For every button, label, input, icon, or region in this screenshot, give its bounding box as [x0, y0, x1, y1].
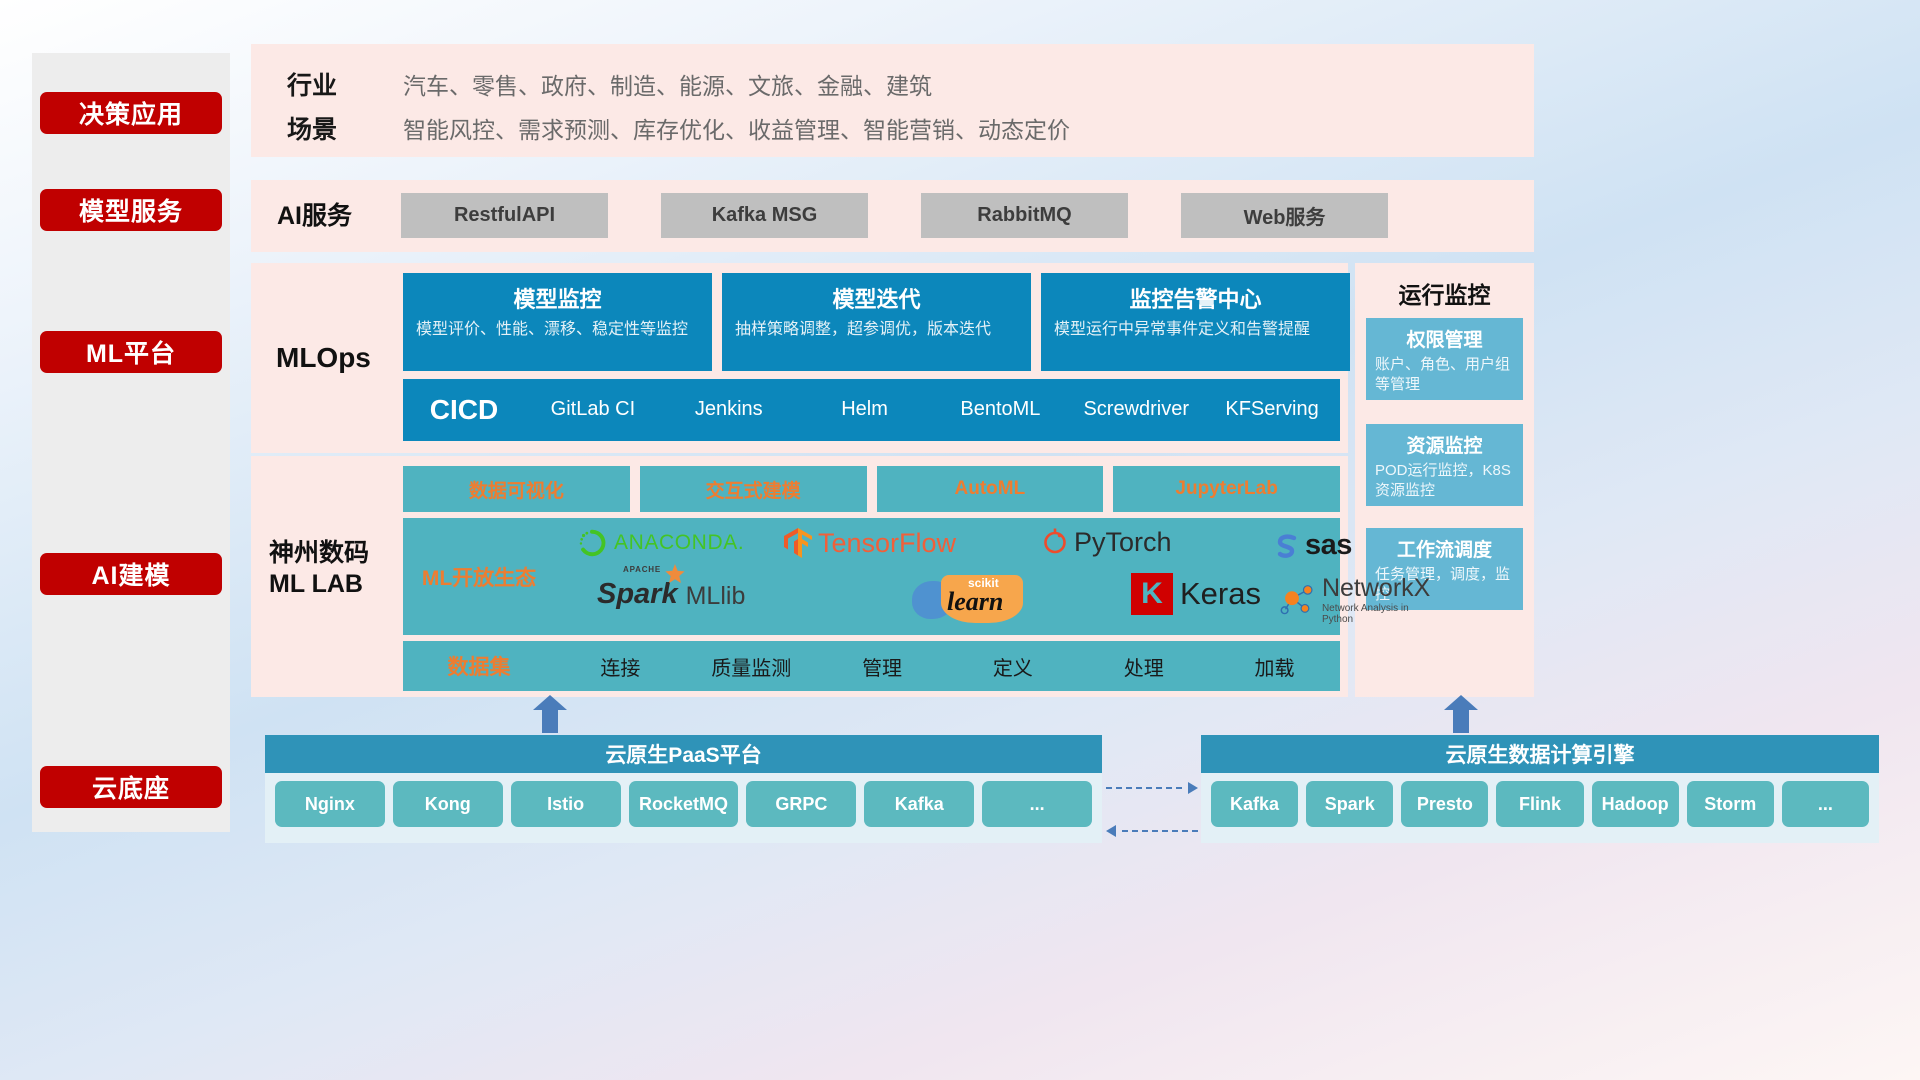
engine-item-hadoop[interactable]: Hadoop	[1592, 781, 1679, 827]
dataset-row: 数据集 连接 质量监测 管理 定义 处理 加载	[403, 641, 1340, 691]
scenario-value: 智能风控、需求预测、库存优化、收益管理、智能营销、动态定价	[403, 111, 1070, 145]
anaconda-icon	[577, 528, 607, 558]
engine-item-storm[interactable]: Storm	[1687, 781, 1774, 827]
stage-pill-ml-platform[interactable]: ML平台	[40, 331, 222, 373]
dataset-label: 数据集	[403, 651, 555, 681]
ml-ecosystem-row: ML开放生态 ANACONDA.	[403, 518, 1340, 635]
arrow-up-icon-paas	[533, 695, 567, 733]
cicd-tool-jenkins[interactable]: Jenkins	[661, 398, 797, 422]
card-title: 工作流调度	[1375, 535, 1514, 562]
pytorch-logo: PyTorch	[1042, 527, 1172, 558]
decision-app-panel: 行业 汽车、零售、政府、制造、能源、文旅、金融、建筑 场景 智能风控、需求预测、…	[251, 44, 1534, 157]
runtime-monitoring-panel: 运行监控 权限管理 账户、角色、用户组等管理 资源监控 POD运行监控，K8S资…	[1355, 263, 1534, 697]
scikit-learn-logo: scikit learn	[912, 575, 1028, 623]
stage-pill-cloud-base[interactable]: 云底座	[40, 766, 222, 808]
dataset-item-definition[interactable]: 定义	[947, 652, 1078, 681]
pytorch-icon	[1042, 528, 1068, 558]
dataset-item-management[interactable]: 管理	[817, 652, 948, 681]
card-desc: 模型运行中异常事件定义和告警提醒	[1054, 319, 1337, 340]
industry-value: 汽车、零售、政府、制造、能源、文旅、金融、建筑	[403, 67, 932, 101]
cicd-bar: CICD GitLab CI Jenkins Helm BentoML Scre…	[403, 379, 1340, 441]
cicd-tool-kfserving[interactable]: KFServing	[1204, 398, 1340, 422]
tensorflow-logo: TensorFlow	[783, 527, 956, 559]
engine-item-group: Kafka Spark Presto Flink Hadoop Storm ..…	[1201, 773, 1879, 835]
dash-line	[1122, 830, 1198, 832]
service-chip-restfulapi[interactable]: RestfulAPI	[401, 193, 608, 238]
cloud-base-section: 云原生PaaS平台 Nginx Kong Istio RocketMQ GRPC…	[251, 695, 1891, 845]
monitoring-card-resource[interactable]: 资源监控 POD运行监控，K8S资源监控	[1366, 424, 1523, 506]
card-title: 模型监控	[416, 282, 699, 314]
spark-apache-text: APACHE	[623, 565, 661, 574]
cicd-tool-helm[interactable]: Helm	[797, 398, 933, 422]
monitoring-title: 运行监控	[1355, 276, 1534, 310]
ai-service-panel: AI服务 RestfulAPI Kafka MSG RabbitMQ Web服务	[251, 180, 1534, 252]
data-engine-box: 云原生数据计算引擎 Kafka Spark Presto Flink Hadoo…	[1201, 735, 1879, 843]
card-title: 模型迭代	[735, 282, 1018, 314]
card-title: 权限管理	[1375, 325, 1514, 352]
paas-item-group: Nginx Kong Istio RocketMQ GRPC Kafka ...	[265, 773, 1102, 835]
keras-mark-icon: K	[1131, 573, 1173, 615]
spark-mllib-logo: APACHE Spark MLlib	[597, 578, 745, 611]
mllib-wordmark: MLlib	[686, 582, 746, 611]
monitoring-card-permission[interactable]: 权限管理 账户、角色、用户组等管理	[1366, 318, 1523, 400]
stage-pill-model-service[interactable]: 模型服务	[40, 189, 222, 231]
scenario-label: 场景	[287, 110, 337, 146]
mlops-card-alert-center[interactable]: 监控告警中心 模型运行中异常事件定义和告警提醒	[1041, 273, 1350, 371]
scikit-learn-wordmark: learn	[947, 587, 1003, 617]
cicd-tool-bentoml[interactable]: BentoML	[932, 398, 1068, 422]
anaconda-logo: ANACONDA.	[577, 528, 744, 558]
networkx-wordmark: NetworkX	[1322, 576, 1433, 601]
card-title: 监控告警中心	[1054, 282, 1337, 314]
dataset-item-connect[interactable]: 连接	[555, 652, 686, 681]
stage-label: 云底座	[92, 769, 170, 805]
cicd-tool-group: GitLab CI Jenkins Helm BentoML Screwdriv…	[525, 398, 1340, 422]
paas-platform-title: 云原生PaaS平台	[265, 735, 1102, 773]
cicd-tool-gitlab-ci[interactable]: GitLab CI	[525, 398, 661, 422]
stage-label: 模型服务	[79, 192, 183, 228]
mlops-label: MLOps	[276, 341, 371, 375]
arrow-right-icon	[1188, 782, 1198, 794]
keras-wordmark: Keras	[1180, 576, 1261, 612]
mlops-card-model-iteration[interactable]: 模型迭代 抽样策略调整，超参调优，版本迭代	[722, 273, 1031, 371]
industry-label: 行业	[287, 66, 337, 102]
anaconda-wordmark: ANACONDA.	[614, 531, 744, 555]
tensorflow-wordmark: TensorFlow	[818, 528, 956, 559]
ml-lab-label-line1: 神州数码	[269, 538, 399, 569]
ai-service-label: AI服务	[277, 201, 352, 232]
mlops-card-group: 模型监控 模型评价、性能、漂移、稳定性等监控 模型迭代 抽样策略调整，超参调优，…	[403, 273, 1350, 371]
ml-ecosystem-logo-group: ANACONDA. TensorFlow	[555, 518, 1340, 635]
engine-item-spark[interactable]: Spark	[1306, 781, 1393, 827]
ml-lab-label-line2: ML LAB	[269, 569, 399, 600]
card-title: 资源监控	[1375, 431, 1514, 458]
data-engine-title: 云原生数据计算引擎	[1201, 735, 1879, 773]
ml-lab-panel: 神州数码 ML LAB 数据可视化 交互式建模 AutoML JupyterLa…	[251, 456, 1348, 697]
dataset-item-loading[interactable]: 加载	[1209, 652, 1340, 681]
engine-item-presto[interactable]: Presto	[1401, 781, 1488, 827]
ai-service-chip-group: RestfulAPI Kafka MSG RabbitMQ Web服务	[401, 193, 1388, 238]
dataset-item-group: 连接 质量监测 管理 定义 处理 加载	[555, 652, 1340, 681]
ml-tool-group: 数据可视化 交互式建模 AutoML JupyterLab	[403, 466, 1340, 512]
ml-ecosystem-label: ML开放生态	[403, 562, 555, 592]
engine-item-flink[interactable]: Flink	[1496, 781, 1583, 827]
networkx-logo: NetworkX Network Analysis in Python	[1280, 576, 1433, 625]
paas-platform-box: 云原生PaaS平台 Nginx Kong Istio RocketMQ GRPC…	[265, 735, 1102, 843]
keras-mark-letter: K	[1141, 577, 1163, 611]
stage-rail	[32, 53, 230, 832]
mlops-panel: MLOps 模型监控 模型评价、性能、漂移、稳定性等监控 模型迭代 抽样策略调整…	[251, 263, 1348, 453]
sas-wordmark: sas	[1305, 529, 1352, 562]
ml-tool-interactive-modeling[interactable]: 交互式建模	[640, 466, 867, 512]
stage-pill-ai-modeling[interactable]: AI建模	[40, 553, 222, 595]
ml-tool-data-visualization[interactable]: 数据可视化	[403, 466, 630, 512]
arrow-up-icon-engine	[1444, 695, 1478, 733]
cicd-label: CICD	[403, 394, 525, 426]
taxonomy-group: 行业 汽车、零售、政府、制造、能源、文旅、金融、建筑 场景 智能风控、需求预测、…	[251, 44, 1534, 157]
arrow-left-icon	[1106, 825, 1116, 837]
dataset-item-quality-monitoring[interactable]: 质量监测	[686, 652, 817, 681]
stage-pill-decision-app[interactable]: 决策应用	[40, 92, 222, 134]
service-chip-kafka-msg[interactable]: Kafka MSG	[661, 193, 868, 238]
mlops-card-model-monitoring[interactable]: 模型监控 模型评价、性能、漂移、稳定性等监控	[403, 273, 712, 371]
ml-lab-label: 神州数码 ML LAB	[269, 538, 399, 599]
pytorch-wordmark: PyTorch	[1074, 527, 1172, 558]
ml-tool-jupyterlab[interactable]: JupyterLab	[1113, 466, 1340, 512]
paas-item-grpc[interactable]: GRPC	[746, 781, 856, 827]
paas-item-kong[interactable]: Kong	[393, 781, 503, 827]
keras-logo: K Keras	[1131, 573, 1261, 615]
paas-item-istio[interactable]: Istio	[511, 781, 621, 827]
card-desc: 抽样策略调整，超参调优，版本迭代	[735, 319, 1018, 340]
service-chip-rabbitmq[interactable]: RabbitMQ	[921, 193, 1128, 238]
paas-item-kafka[interactable]: Kafka	[864, 781, 974, 827]
card-desc: 账户、角色、用户组等管理	[1375, 355, 1514, 395]
stage-label: 决策应用	[79, 95, 183, 131]
paas-item-more[interactable]: ...	[982, 781, 1092, 827]
paas-item-nginx[interactable]: Nginx	[275, 781, 385, 827]
tensorflow-icon	[783, 527, 813, 559]
networkx-icon	[1280, 582, 1317, 620]
sas-icon	[1273, 531, 1303, 561]
paas-item-rocketmq[interactable]: RocketMQ	[629, 781, 739, 827]
engine-item-more[interactable]: ...	[1782, 781, 1869, 827]
spark-star-icon	[665, 564, 685, 584]
card-desc: 模型评价、性能、漂移、稳定性等监控	[416, 319, 699, 340]
networkx-tagline: Network Analysis in Python	[1322, 603, 1433, 625]
ml-tool-automl[interactable]: AutoML	[877, 466, 1104, 512]
dataset-item-processing[interactable]: 处理	[1078, 652, 1209, 681]
stage-label: AI建模	[91, 556, 170, 592]
ml-lab-body: 数据可视化 交互式建模 AutoML JupyterLab ML开放生态 A	[403, 466, 1340, 691]
card-desc: POD运行监控，K8S资源监控	[1375, 461, 1514, 501]
service-chip-web-service[interactable]: Web服务	[1181, 193, 1388, 238]
stage-label: ML平台	[86, 334, 176, 370]
sas-logo: sas	[1273, 529, 1352, 562]
dash-line	[1106, 787, 1182, 789]
engine-item-kafka[interactable]: Kafka	[1211, 781, 1298, 827]
cicd-tool-screwdriver[interactable]: Screwdriver	[1068, 398, 1204, 422]
